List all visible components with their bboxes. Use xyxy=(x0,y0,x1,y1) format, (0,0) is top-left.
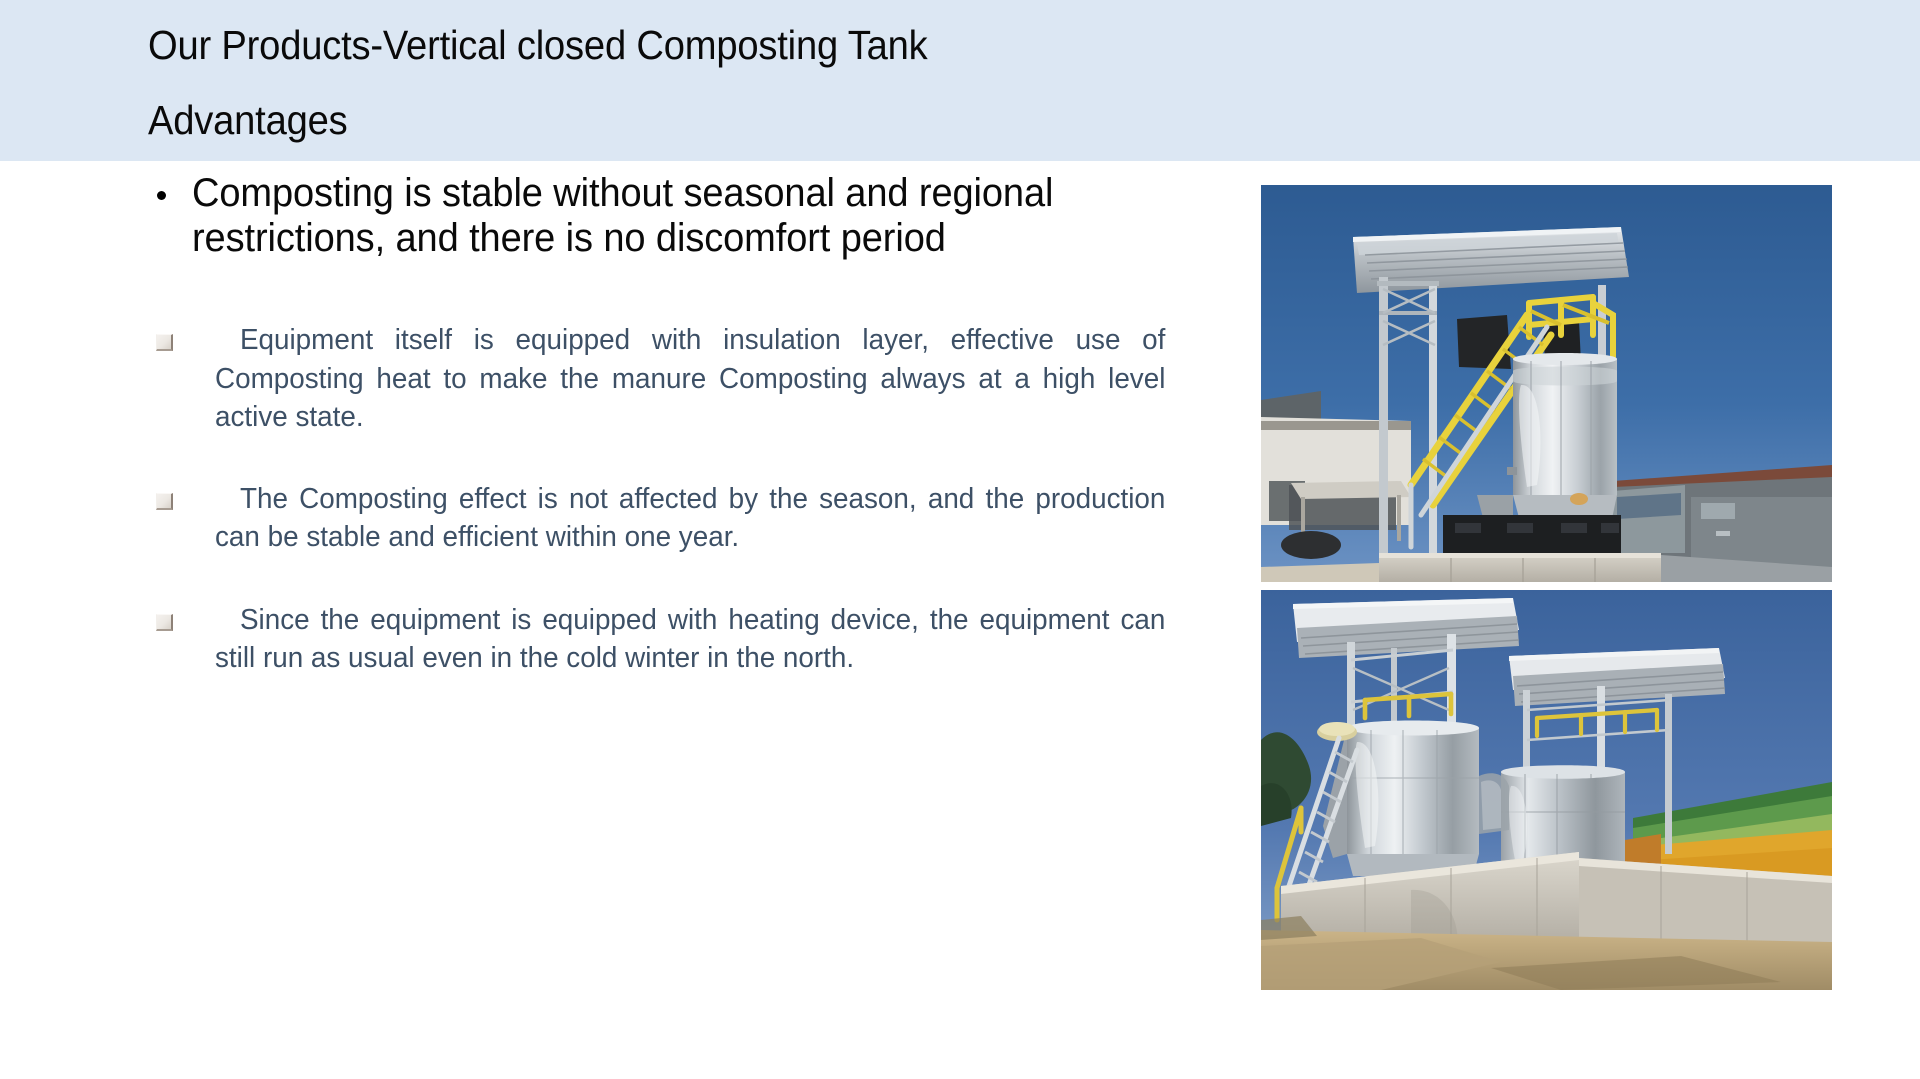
lead-bullet-item: Composting is stable without seasonal an… xyxy=(150,161,1150,261)
beveled-square-icon xyxy=(156,493,173,510)
sub-bullet-list: Equipment itself is equipped with insula… xyxy=(150,321,1150,677)
photo-column xyxy=(1261,185,1832,990)
slide-body: Composting is stable without seasonal an… xyxy=(0,161,1920,1079)
sub-bullet-text: Equipment itself is equipped with insula… xyxy=(215,321,1165,436)
vertical-composting-tank-single-photo xyxy=(1261,185,1832,582)
beveled-square-icon xyxy=(156,614,173,631)
sub-bullet-text: Since the equipment is equipped with hea… xyxy=(215,601,1165,678)
slide-header-band: Our Products-Vertical closed Composting … xyxy=(0,0,1920,161)
list-item: Equipment itself is equipped with insula… xyxy=(150,321,1215,436)
beveled-square-icon xyxy=(156,334,173,351)
page-title: Our Products-Vertical closed Composting … xyxy=(148,8,1218,158)
list-item: The Composting effect is not affected by… xyxy=(150,480,1215,557)
text-column: Composting is stable without seasonal an… xyxy=(150,161,1150,677)
sub-bullet-text-value: Since the equipment is equipped with hea… xyxy=(215,604,1165,674)
list-item: Since the equipment is equipped with hea… xyxy=(150,601,1215,678)
sub-bullet-text-value: Equipment itself is equipped with insula… xyxy=(215,324,1165,433)
sub-bullet-text-value: The Composting effect is not affected by… xyxy=(215,483,1165,553)
composting-tank-pair-illustration xyxy=(1261,590,1832,990)
round-dot-icon xyxy=(157,191,166,200)
sub-bullet-text: The Composting effect is not affected by… xyxy=(215,480,1165,557)
composting-tank-single-illustration xyxy=(1261,185,1832,582)
vertical-composting-tank-pair-photo xyxy=(1261,590,1832,990)
lead-bullet-text: Composting is stable without seasonal an… xyxy=(192,161,1152,261)
